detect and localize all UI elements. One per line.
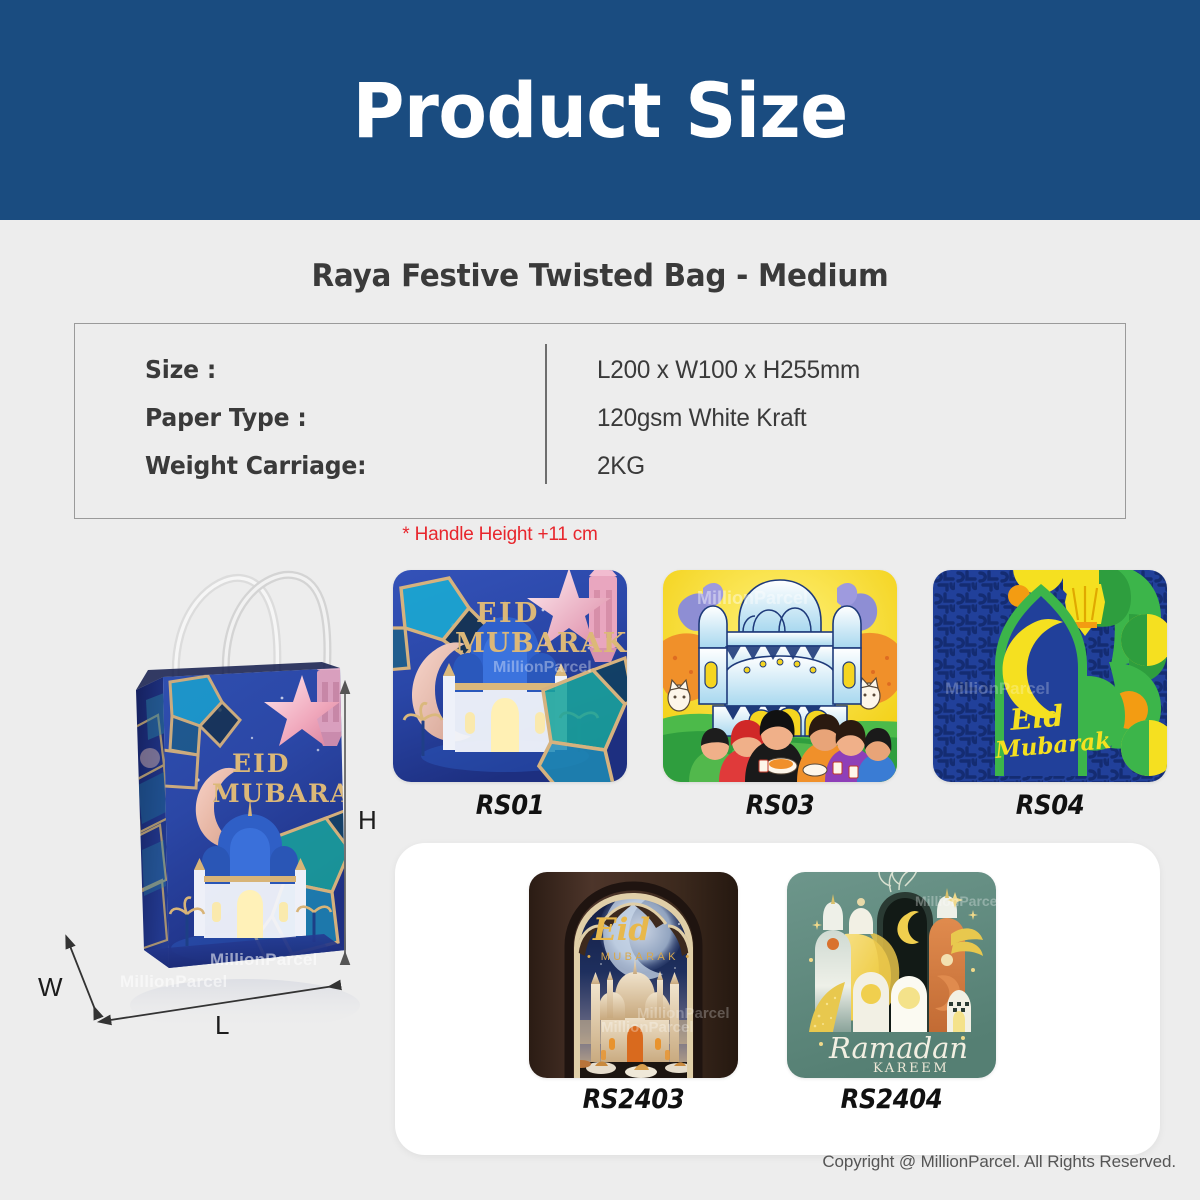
design-code-rs03: RS03 — [675, 790, 886, 821]
bag-illustration: EID MUBARAK MillionParcel MillionParcel — [30, 550, 400, 1070]
bag-eid-text-line2: MUBARAK — [212, 779, 374, 808]
bag-eid-text-line1: EID — [232, 749, 290, 778]
handle-height-note: * Handle Height +11 cm — [0, 524, 1200, 546]
copyright-footer: Copyright @ MillionParcel. All Rights Re… — [822, 1152, 1176, 1172]
svg-text:KAREEM: KAREEM — [873, 1061, 949, 1076]
spec-value-column: L200 x W100 x H255mm 120gsm White Kraft … — [597, 346, 868, 490]
svg-text:Ramadan: Ramadan — [828, 1031, 968, 1065]
design-thumbnail-rs2404[interactable]: Ramadan KAREEM MillionParcel RS2404 — [787, 872, 996, 1078]
dimension-label-width: W — [38, 972, 63, 1003]
svg-text:EID: EID — [476, 598, 540, 629]
spec-value-size: L200 x W100 x H255mm — [597, 346, 860, 394]
design-thumbnail-rs01[interactable]: EID MUBARAK MillionParcel RS01 — [393, 570, 627, 782]
design-thumbnail-rs04[interactable]: Eid Mubarak MillionParcel RS04 — [933, 570, 1167, 782]
svg-text:MillionParcel: MillionParcel — [915, 893, 996, 909]
design-image-rs01[interactable]: EID MUBARAK MillionParcel — [393, 570, 627, 782]
design-thumbnail-rs2403[interactable]: Eid • MUBARAK • MillionParcel MillionPar… — [529, 872, 738, 1078]
product-name: Raya Festive Twisted Bag - Medium — [30, 258, 1170, 294]
svg-text:MillionParcel: MillionParcel — [493, 659, 592, 676]
page-title: Product Size — [352, 66, 847, 155]
design-image-rs2403[interactable]: Eid • MUBARAK • MillionParcel MillionPar… — [529, 872, 738, 1078]
featured-designs-card — [395, 843, 1160, 1155]
design-code-rs2404: RS2404 — [797, 1084, 985, 1115]
design-code-rs04: RS04 — [945, 790, 1156, 821]
spec-value-weight-carriage: 2KG — [597, 442, 860, 490]
svg-text:MillionParcel: MillionParcel — [637, 1005, 730, 1022]
bag-svg: EID MUBARAK — [30, 550, 400, 1070]
svg-text:Eid: Eid — [592, 912, 650, 948]
spec-label-column: Size : Paper Type : Weight Carriage: — [145, 346, 545, 490]
dimension-label-length: L — [215, 1010, 229, 1041]
product-size-infographic: Product Size Raya Festive Twisted Bag - … — [0, 0, 1200, 1200]
spec-label-weight-carriage: Weight Carriage: — [145, 442, 521, 490]
svg-text:MillionParcel: MillionParcel — [697, 588, 808, 608]
dimension-label-height: H — [358, 805, 377, 836]
design-image-rs2404[interactable]: Ramadan KAREEM MillionParcel — [787, 872, 996, 1078]
design-image-rs04[interactable]: Eid Mubarak MillionParcel — [933, 570, 1167, 782]
svg-text:MUBARAK: MUBARAK — [455, 628, 627, 659]
spec-table-divider — [545, 344, 547, 484]
design-code-rs01: RS01 — [405, 790, 616, 821]
spec-value-paper-type: 120gsm White Kraft — [597, 394, 860, 442]
design-thumbnail-rs03[interactable]: MillionParcel RS03 — [663, 570, 897, 782]
design-code-rs2403: RS2403 — [539, 1084, 727, 1115]
spec-label-size: Size : — [145, 346, 521, 394]
spec-table: Size : Paper Type : Weight Carriage: L20… — [74, 323, 1126, 519]
design-image-rs03[interactable]: MillionParcel — [663, 570, 897, 782]
spec-label-paper-type: Paper Type : — [145, 394, 521, 442]
svg-text:MillionParcel: MillionParcel — [945, 679, 1050, 698]
header-banner: Product Size — [0, 0, 1200, 220]
svg-text:• MUBARAK •: • MUBARAK • — [587, 951, 693, 963]
